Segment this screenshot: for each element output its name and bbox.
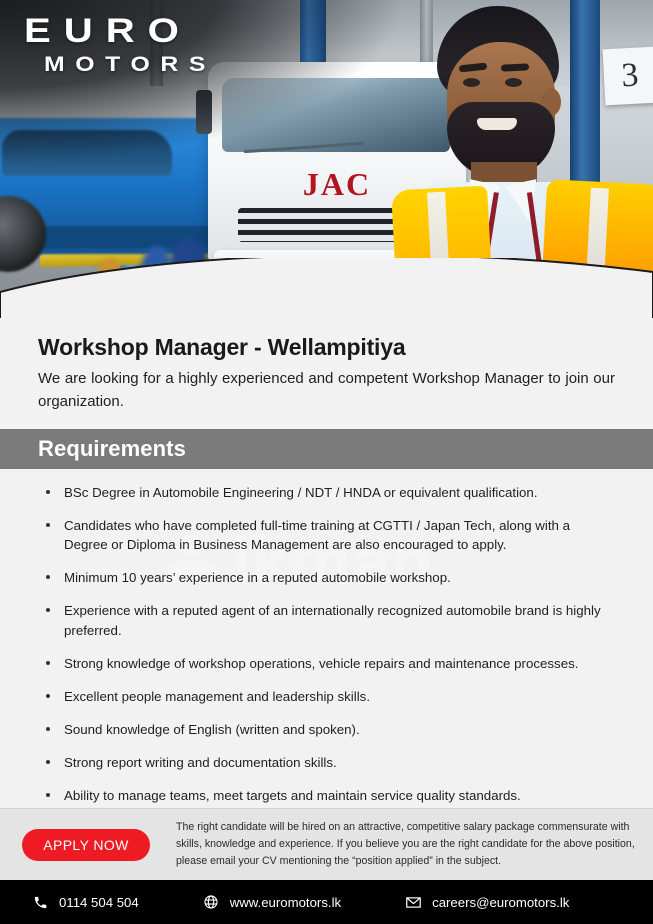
background-technician [168, 238, 210, 310]
truck-license-plate: JAC 19 [282, 260, 388, 284]
person-eye [463, 78, 480, 87]
logo-text-motors: MOTORS [44, 54, 216, 75]
list-item: Experience with a reputed agent of an in… [44, 601, 615, 641]
hero-banner: JAC JAC 19 3 [0, 0, 653, 340]
list-item: Ability to manage teams, meet targets an… [44, 786, 615, 806]
list-item: BSc Degree in Automobile Engineering / N… [44, 483, 615, 503]
person-mouth [477, 118, 517, 130]
apply-section: APPLY NOW The right candidate will be hi… [0, 808, 653, 880]
requirements-list: BSc Degree in Automobile Engineering / N… [44, 483, 615, 839]
phone-icon [30, 892, 50, 912]
workshop-manager-person [391, 6, 653, 340]
list-item: Candidates who have completed full-time … [44, 516, 615, 556]
list-item: Sound knowledge of English (written and … [44, 720, 615, 740]
email-text: careers@euromotors.lk [432, 895, 569, 910]
envelope-icon [403, 892, 423, 912]
requirements-header-bar: Requirements ikman [0, 429, 653, 469]
background-technician [140, 246, 174, 308]
person-eyebrow [501, 63, 529, 71]
requirements-heading: Requirements [38, 436, 186, 462]
website-text: www.euromotors.lk [230, 895, 341, 910]
job-intro-text: We are looking for a highly experienced … [38, 368, 615, 414]
job-advertisement-poster: JAC JAC 19 3 [0, 0, 653, 924]
apply-now-button[interactable]: APPLY NOW [22, 829, 150, 861]
background-technician [96, 258, 124, 310]
apply-instructions-text: The right candidate will be hired on an … [176, 819, 635, 870]
list-item: Excellent people management and leadersh… [44, 687, 615, 707]
contact-phone[interactable]: 0114 504 504 [30, 892, 139, 912]
page-title: Workshop Manager - Wellampitiya [38, 334, 615, 361]
contact-bar: 0114 504 504 www.euromotors.lk caree [0, 880, 653, 924]
contact-email[interactable]: careers@euromotors.lk [403, 892, 569, 912]
logo-text-euro: EURO [24, 14, 220, 48]
list-item: Strong knowledge of workshop operations,… [44, 654, 615, 674]
list-item: Strong report writing and documentation … [44, 753, 615, 773]
company-logo: EURO MOTORS [24, 14, 190, 75]
phone-number-text: 0114 504 504 [59, 895, 139, 910]
list-item: Minimum 10 years’ experience in a repute… [44, 568, 615, 588]
person-eye [505, 78, 522, 87]
globe-icon [201, 892, 221, 912]
contact-website[interactable]: www.euromotors.lk [201, 892, 341, 912]
